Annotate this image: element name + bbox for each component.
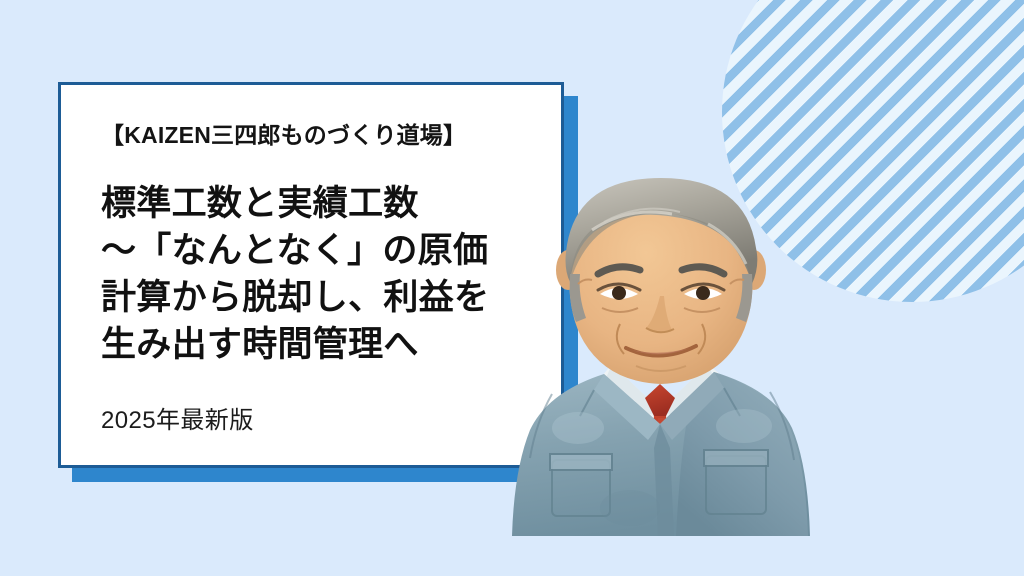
- title-card: 【KAIZEN三四郎ものづくり道場】 標準工数と実績工数 〜「なんとなく」の原価…: [58, 82, 564, 468]
- page-title: 標準工数と実績工数 〜「なんとなく」の原価 計算から脱却し、利益を 生み出す時間…: [101, 180, 539, 368]
- instructor-illustration: [508, 178, 814, 536]
- slide-canvas: 【KAIZEN三四郎ものづくり道場】 標準工数と実績工数 〜「なんとなく」の原価…: [0, 0, 1024, 576]
- page-title-line-2: 〜「なんとなく」の原価: [101, 227, 539, 274]
- edition-label: 2025年最新版: [101, 400, 539, 435]
- title-card-content: 【KAIZEN三四郎ものづくり道場】 標準工数と実績工数 〜「なんとなく」の原価…: [101, 121, 539, 435]
- page-title-line-1: 標準工数と実績工数: [101, 180, 539, 227]
- page-title-line-4: 生み出す時間管理へ: [101, 321, 539, 368]
- instructor-illustration-svg: [508, 178, 814, 536]
- series-label: 【KAIZEN三四郎ものづくり道場】: [101, 121, 539, 150]
- page-title-line-3: 計算から脱却し、利益を: [101, 274, 539, 321]
